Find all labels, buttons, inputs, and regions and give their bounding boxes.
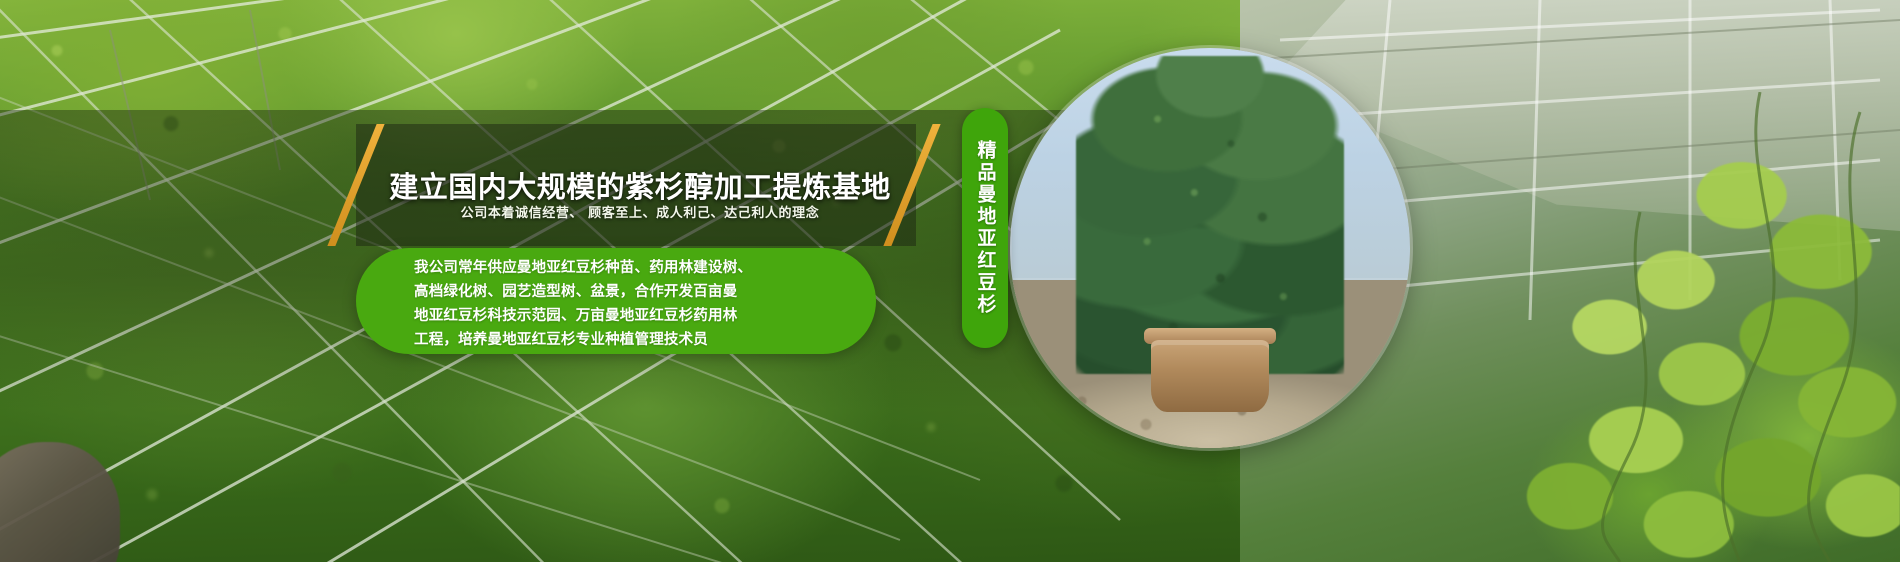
vertical-product-label: 精品曼地亚红豆杉 [962,108,1008,348]
headline-text: 建立国内大规模的紫杉醇加工提炼基地 [380,164,900,206]
flower-pot [1151,340,1269,412]
promotional-banner: 精品曼地亚红豆杉 建立国内大规模的紫杉醇加工提炼基地 公司本着诚信经营、 顾客至… [0,0,1900,562]
yew-tree-needle-texture [1079,64,1341,370]
green-info-pill-text: 我公司常年供应曼地亚红豆杉种苗、药用林建设树、 高档绿化树、园艺造型树、盆景，合… [414,256,834,352]
green-info-line-1: 我公司常年供应曼地亚红豆杉种苗、药用林建设树、 [414,256,834,280]
subtitle-text: 公司本着诚信经营、 顾客至上、成人利己、达己利人的理念 [380,202,900,221]
product-photo-potted-yew [1010,48,1410,448]
vertical-product-label-text: 精品曼地亚红豆杉 [976,140,995,316]
green-info-line-3: 地亚红豆杉科技示范园、万亩曼地亚红豆杉药用林 [414,304,834,328]
green-info-line-4: 工程，培养曼地亚红豆杉专业种植管理技术员 [414,328,834,352]
green-info-line-2: 高档绿化树、园艺造型树、盆景，合作开发百亩曼 [414,280,834,304]
